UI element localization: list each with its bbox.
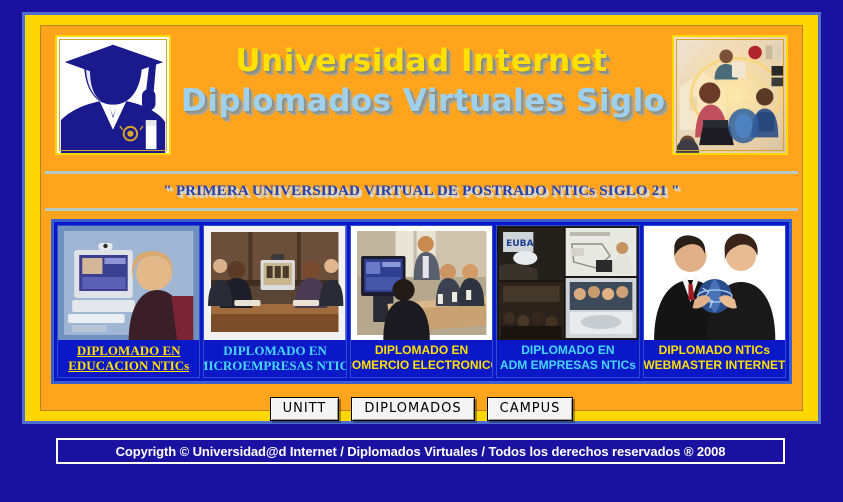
unitt-button[interactable]: UNITT (270, 397, 340, 421)
caption-line1: DIPLOMADO EN (375, 343, 468, 358)
campus-button[interactable]: CAMPUS (487, 397, 574, 421)
collage-inner-frame (676, 39, 784, 151)
diplomados-button[interactable]: DIPLOMADOS (351, 397, 474, 421)
conference-room-presentation (351, 226, 492, 340)
program-caption-1[interactable]: DIPLOMADO EN EDUCACION NTICs (58, 340, 199, 377)
woman-at-videoconference-computer (58, 226, 199, 340)
header-titles: Universidad Internet Diplomados Virtuale… (181, 42, 662, 121)
thumb-image-5 (644, 226, 785, 340)
caption-line2: COMERCIO ELECTRONICO (350, 358, 493, 373)
logo-inner-frame (59, 39, 167, 151)
caption-line1: DIPLOMADO NTICs (659, 343, 770, 358)
program-card-adm-empresas[interactable]: EUBA (496, 225, 639, 378)
caption-line2: ADM EMPRESAS NTICs (500, 358, 636, 373)
caption-line2: EDUCACION NTICs (68, 358, 189, 373)
svg-text:EUBA: EUBA (506, 239, 534, 249)
caption-line1: DIPLOMADO EN (223, 343, 327, 358)
boardroom-videoconference-meeting (204, 226, 345, 340)
caption-line2: WEBMASTER INTERNET (643, 358, 785, 373)
program-card-comercio[interactable]: DIPLOMADO EN COMERCIO ELECTRONICO (350, 225, 493, 378)
subtitle-text: " PRIMERA UNIVERSIDAD VIRTUAL DE POSTRAD… (163, 183, 679, 200)
auditorium-lecture-collage: EUBA (497, 226, 638, 340)
couple-holding-globe (644, 226, 785, 340)
caption-line1: DIPLOMADO EN (521, 343, 614, 358)
caption-line2: MICROEMPRESAS NTICs (203, 358, 346, 373)
header: Universidad Internet Diplomados Virtuale… (41, 26, 802, 165)
footer-bar: Copyrigth © Universidad@d Internet / Dip… (56, 438, 785, 464)
main-card: Universidad Internet Diplomados Virtuale… (22, 12, 821, 424)
program-caption-5[interactable]: DIPLOMADO NTICs WEBMASTER INTERNET (644, 340, 785, 377)
thumb-image-4: EUBA (497, 226, 638, 340)
students-technology-collage (672, 35, 788, 155)
thumb-image-1 (58, 226, 199, 340)
program-card-microempresas[interactable]: DIPLOMADO EN MICROEMPRESAS NTICs (203, 225, 346, 378)
program-caption-2[interactable]: DIPLOMADO EN MICROEMPRESAS NTICs (204, 340, 345, 377)
programs-strip: DIPLOMADO EN EDUCACION NTICs (51, 219, 792, 384)
card-inner-panel: Universidad Internet Diplomados Virtuale… (40, 25, 803, 411)
copyright-text: Copyrigth © Universidad@d Internet / Dip… (116, 444, 726, 459)
program-caption-4[interactable]: DIPLOMADO EN ADM EMPRESAS NTICs (497, 340, 638, 377)
page-title-line1: Universidad Internet (181, 42, 662, 80)
program-card-educacion[interactable]: DIPLOMADO EN EDUCACION NTICs (57, 225, 200, 378)
page-root: Universidad Internet Diplomados Virtuale… (0, 0, 843, 502)
program-card-webmaster[interactable]: DIPLOMADO NTICs WEBMASTER INTERNET (643, 225, 786, 378)
graduate-silhouette-logo (55, 35, 171, 155)
page-title-line2: Diplomados Virtuales Siglo 21 (181, 81, 662, 121)
nav-buttons: UNITT DIPLOMADOS CAMPUS (41, 394, 802, 424)
caption-line1: DIPLOMADO EN (77, 343, 181, 358)
programs-list: DIPLOMADO EN EDUCACION NTICs (57, 225, 786, 378)
thumb-image-2 (204, 226, 345, 340)
subtitle-banner: " PRIMERA UNIVERSIDAD VIRTUAL DE POSTRAD… (45, 171, 798, 211)
thumb-image-3 (351, 226, 492, 340)
program-caption-3[interactable]: DIPLOMADO EN COMERCIO ELECTRONICO (351, 340, 492, 377)
